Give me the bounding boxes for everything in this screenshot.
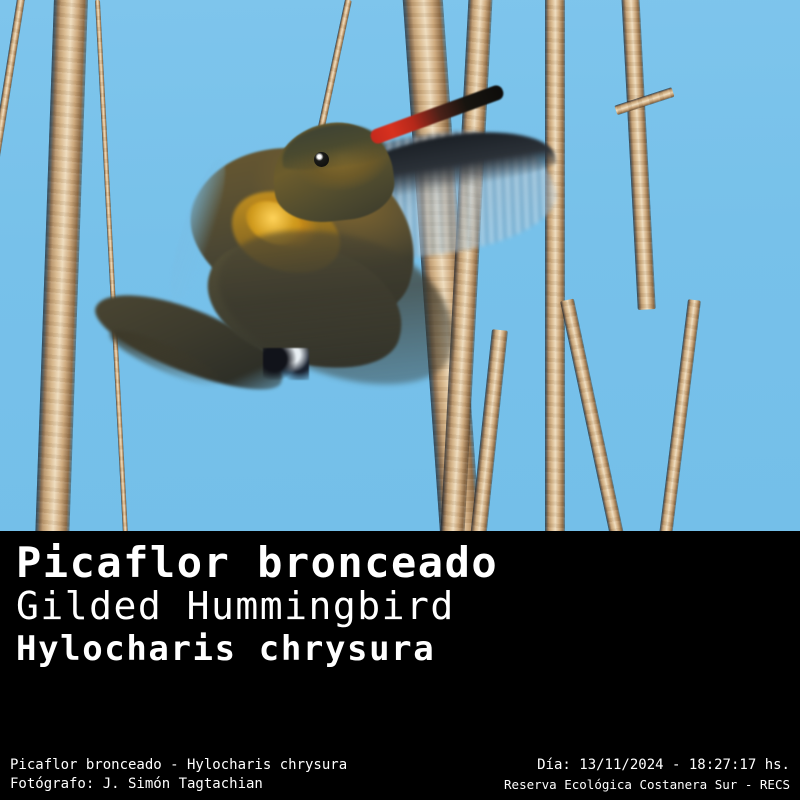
footer-location-line: Reserva Ecológica Costanera Sur - RECS [504, 775, 790, 794]
scientific-name: Hylocharis chrysura [16, 630, 435, 668]
photo-card: Picaflor bronceado Gilded Hummingbird Hy… [0, 0, 800, 800]
footer-photographer-line: Fotógrafo: J. Simón Tagtachian [10, 775, 263, 794]
footer-species-line: Picaflor bronceado - Hylocharis chrysura [10, 756, 347, 775]
footer-datetime-line: Día: 13/11/2024 - 18:27:17 hs. [537, 756, 790, 775]
common-name-english: Gilded Hummingbird [16, 585, 455, 627]
eye [314, 152, 329, 167]
common-name-spanish: Picaflor bronceado [16, 541, 498, 585]
photograph [0, 0, 800, 531]
feet [263, 348, 309, 380]
footer-bar: Picaflor bronceado - Hylocharis chrysura… [0, 748, 800, 796]
hummingbird [95, 95, 555, 425]
